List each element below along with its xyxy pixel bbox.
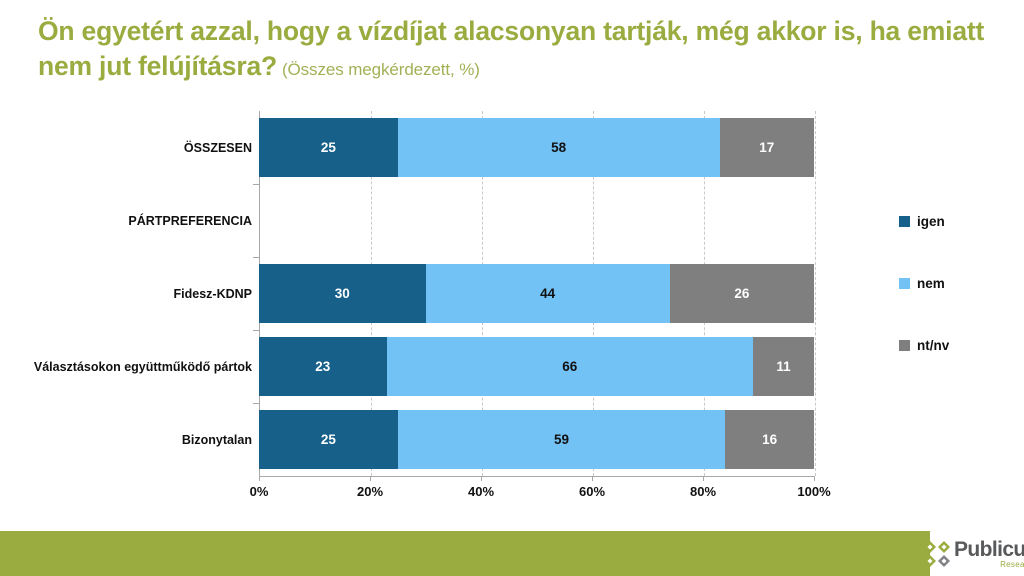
title-subtitle-text: (Összes megkérdezett, %) [282,60,480,79]
x-axis-label: 80% [690,484,716,499]
x-axis-label: 0% [250,484,269,499]
bar-segment-ntnv[interactable]: 26 [670,264,814,323]
footer-band [0,531,930,576]
bar-row: 255916 [259,410,814,469]
legend-label: igen [917,214,945,229]
bar-segment-igen[interactable]: 25 [259,410,398,469]
bar-row: 236611 [259,337,814,396]
x-tick-100 [814,476,815,481]
bar-segment-nem[interactable]: 59 [398,410,725,469]
legend-item-nem[interactable]: nem [899,252,1009,314]
category-label-4: Bizonytalan [182,434,252,447]
bar-segment-nem[interactable]: 44 [426,264,670,323]
bar-segment-igen[interactable]: 25 [259,118,398,177]
x-axis-label: 60% [579,484,605,499]
page-title: Ön egyetért azzal, hogy a vízdíjat alacs… [38,14,988,84]
logo-wordmark: Publicus Research [954,539,1024,569]
bar-segment-ntnv[interactable]: 11 [753,337,814,396]
bar-segment-nem[interactable]: 58 [398,118,720,177]
legend-item-igen[interactable]: igen [899,190,1009,252]
x-axis-line [259,476,815,477]
logo-tagline-text: Research [954,561,1024,569]
bar-row: 304426 [259,264,814,323]
chart-legend: igennemnt/nv [899,190,1009,376]
bar-segment-igen[interactable]: 30 [259,264,426,323]
bar-segment-igen[interactable]: 23 [259,337,387,396]
legend-swatch-icon [899,340,910,351]
bar-segment-nem[interactable]: 66 [387,337,753,396]
y-tick [253,403,259,404]
gridline-100 [815,111,816,476]
legend-item-nt-nv[interactable]: nt/nv [899,314,1009,376]
bar-row: 255817 [259,118,814,177]
stacked-bar-chart: ÖSSZESEN255817PÁRTPREFERENCIAFidesz-KDNP… [0,104,1024,504]
y-tick [253,184,259,185]
x-tick-60 [592,476,593,481]
x-axis-label: 100% [797,484,830,499]
legend-swatch-icon [899,278,910,289]
category-label-1: PÁRTPREFERENCIA [128,215,252,228]
x-axis-label: 20% [357,484,383,499]
legend-swatch-icon [899,216,910,227]
bar-segment-ntnv[interactable]: 16 [725,410,814,469]
category-label-0: ÖSSZESEN [184,142,252,155]
diamond-cluster-icon [922,539,952,569]
x-tick-80 [703,476,704,481]
bar-segment-ntnv[interactable]: 17 [720,118,814,177]
logo-name-text: Publicus [954,539,1024,560]
x-tick-20 [370,476,371,481]
x-axis-label: 40% [468,484,494,499]
legend-label: nt/nv [917,338,949,353]
legend-label: nem [917,276,945,291]
publicus-logo: Publicus Research [922,533,1024,575]
x-tick-0 [259,476,260,481]
y-tick [253,257,259,258]
title-main-text: Ön egyetért azzal, hogy a vízdíjat alacs… [38,16,984,81]
y-tick [253,330,259,331]
category-label-2: Fidesz-KDNP [174,288,252,301]
category-label-3: Választásokon együttműködő pártok [34,361,252,374]
x-tick-40 [481,476,482,481]
